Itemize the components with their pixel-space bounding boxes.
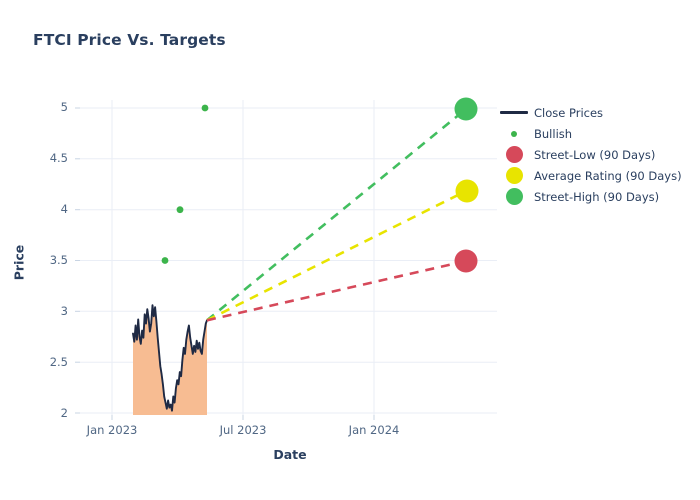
legend-label: Bullish — [534, 127, 572, 141]
average-rating-marker[interactable] — [456, 180, 479, 203]
y-tick-label: 2 — [28, 406, 68, 420]
legend-label: Street-High (90 Days) — [534, 190, 659, 204]
legend-label: Average Rating (90 Days) — [534, 169, 682, 183]
x-tick-marks — [112, 415, 374, 420]
legend-item-street-low[interactable]: Street-Low (90 Days) — [494, 145, 682, 164]
y-tick-label: 3 — [28, 304, 68, 318]
x-axis-title: Date — [0, 447, 580, 462]
x-tick-label: Jan 2023 — [67, 423, 157, 437]
y-tick-label: 5 — [28, 100, 68, 114]
bullish-point[interactable] — [202, 105, 209, 112]
street-low-marker[interactable] — [455, 250, 478, 273]
legend-item-average-rating[interactable]: Average Rating (90 Days) — [494, 166, 682, 185]
y-axis-title: Price — [12, 233, 27, 293]
x-tick-label: Jan 2024 — [329, 423, 419, 437]
legend-item-bullish[interactable]: Bullish — [494, 124, 682, 143]
chart-figure: FTCI Price Vs. Targets — [0, 0, 700, 500]
legend-item-close-prices[interactable]: Close Prices — [494, 103, 682, 122]
small-dot-glyph-icon — [494, 131, 534, 137]
large-dot-glyph-icon — [494, 167, 534, 184]
legend-label: Close Prices — [534, 106, 603, 120]
large-dot-glyph-icon — [494, 146, 534, 163]
y-tick-label: 2.5 — [28, 355, 68, 369]
bullish-point[interactable] — [162, 257, 169, 264]
y-tick-label: 4.5 — [28, 151, 68, 165]
street-high-marker[interactable] — [455, 98, 478, 121]
y-tick-marks — [75, 108, 80, 413]
x-tick-label: Jul 2023 — [198, 423, 288, 437]
y-tick-label: 3.5 — [28, 253, 68, 267]
legend-item-street-high[interactable]: Street-High (90 Days) — [494, 187, 682, 206]
bullish-point[interactable] — [177, 206, 184, 213]
legend-label: Street-Low (90 Days) — [534, 148, 655, 162]
chart-legend: Close Prices Bullish Street-Low (90 Days… — [494, 103, 682, 206]
y-tick-label: 4 — [28, 202, 68, 216]
large-dot-glyph-icon — [494, 188, 534, 205]
line-glyph-icon — [494, 111, 534, 114]
